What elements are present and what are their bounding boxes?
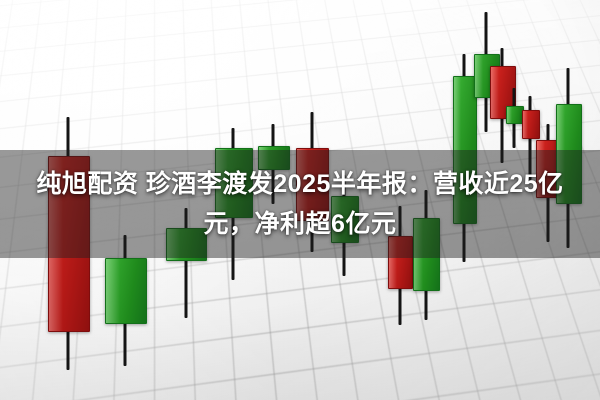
screenshot-stage: 纯旭配资 珍酒李渡发2025半年报：营收近25亿 元，净利超6亿元 bbox=[0, 0, 600, 400]
candle-body-highlight bbox=[523, 111, 528, 138]
headline-text: 纯旭配资 珍酒李渡发2025半年报：营收近25亿 元，净利超6亿元 bbox=[0, 164, 600, 244]
candle-13 bbox=[506, 88, 522, 148]
candle-body-up bbox=[105, 258, 147, 324]
candle-body-highlight bbox=[475, 55, 483, 97]
candle-body-highlight bbox=[507, 107, 512, 123]
candle-body-highlight bbox=[106, 259, 120, 323]
candle-body-highlight bbox=[491, 67, 499, 118]
